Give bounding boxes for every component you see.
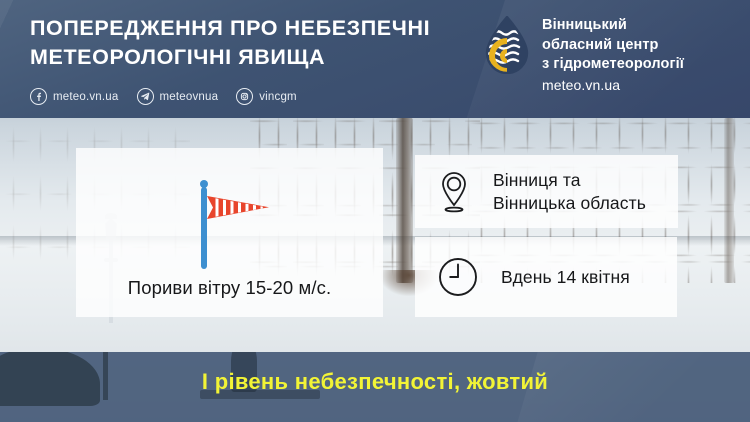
organisation-logo[interactable]: Вінницький обласний центр з гідрометеоро… bbox=[484, 16, 684, 95]
location-pin-icon bbox=[437, 170, 471, 214]
header-band: ПОПЕРЕДЖЕННЯ ПРО НЕБЕЗПЕЧНІ МЕТЕОРОЛОГІЧ… bbox=[0, 0, 750, 118]
page-title-line1: ПОПЕРЕДЖЕННЯ ПРО НЕБЕЗПЕЧНІ bbox=[30, 16, 430, 40]
location-panel: Вінниця та Вінницька область bbox=[415, 155, 678, 228]
location-line-1: Вінниця та bbox=[493, 170, 581, 190]
weather-warning-poster: ПОПЕРЕДЖЕННЯ ПРО НЕБЕЗПЕЧНІ МЕТЕОРОЛОГІЧ… bbox=[0, 0, 750, 422]
time-panel: Вдень 14 квітня bbox=[415, 237, 677, 317]
social-handle-instagram: vincgm bbox=[259, 91, 297, 103]
danger-level-banner: І рівень небезпечності, жовтий bbox=[0, 352, 750, 422]
logo-line-2: обласний центр bbox=[542, 37, 659, 53]
clock-icon bbox=[437, 256, 479, 298]
logo-line-1: Вінницький bbox=[542, 17, 627, 33]
tree-trunk-main bbox=[396, 118, 413, 283]
social-link-telegram[interactable]: meteovnua bbox=[137, 88, 219, 105]
wind-panel: Пориви вітру 15-20 м/с. bbox=[76, 148, 383, 317]
time-row: Вдень 14 квітня bbox=[415, 237, 677, 317]
social-links: meteo.vn.ua meteovnua vincgm bbox=[30, 88, 297, 105]
waterdrop-logo-icon bbox=[484, 16, 530, 74]
page-title: ПОПЕРЕДЖЕННЯ ПРО НЕБЕЗПЕЧНІ МЕТЕОРОЛОГІЧ… bbox=[30, 14, 480, 71]
telegram-icon bbox=[137, 88, 154, 105]
time-text: Вдень 14 квітня bbox=[501, 266, 630, 288]
social-handle-facebook: meteo.vn.ua bbox=[53, 91, 119, 103]
logo-website[interactable]: meteo.vn.ua bbox=[542, 76, 684, 95]
wind-caption: Пориви вітру 15-20 м/с. bbox=[76, 277, 383, 299]
pennant-flag bbox=[207, 194, 271, 222]
logo-line-3: з гідрометеорології bbox=[542, 56, 684, 72]
social-link-facebook[interactable]: meteo.vn.ua bbox=[30, 88, 119, 105]
danger-level-text: І рівень небезпечності, жовтий bbox=[0, 369, 750, 395]
tree-trunk-edge bbox=[724, 118, 734, 283]
instagram-icon bbox=[236, 88, 253, 105]
organisation-name: Вінницький обласний центр з гідрометеоро… bbox=[542, 16, 684, 95]
page-title-line2: МЕТЕОРОЛОГІЧНІ ЯВИЩА bbox=[30, 43, 480, 72]
social-link-instagram[interactable]: vincgm bbox=[236, 88, 297, 105]
location-text: Вінниця та Вінницька область bbox=[493, 169, 646, 214]
facebook-icon bbox=[30, 88, 47, 105]
location-line-2: Вінницька область bbox=[493, 192, 646, 214]
location-row: Вінниця та Вінницька область bbox=[415, 155, 678, 228]
social-handle-telegram: meteovnua bbox=[160, 91, 219, 103]
